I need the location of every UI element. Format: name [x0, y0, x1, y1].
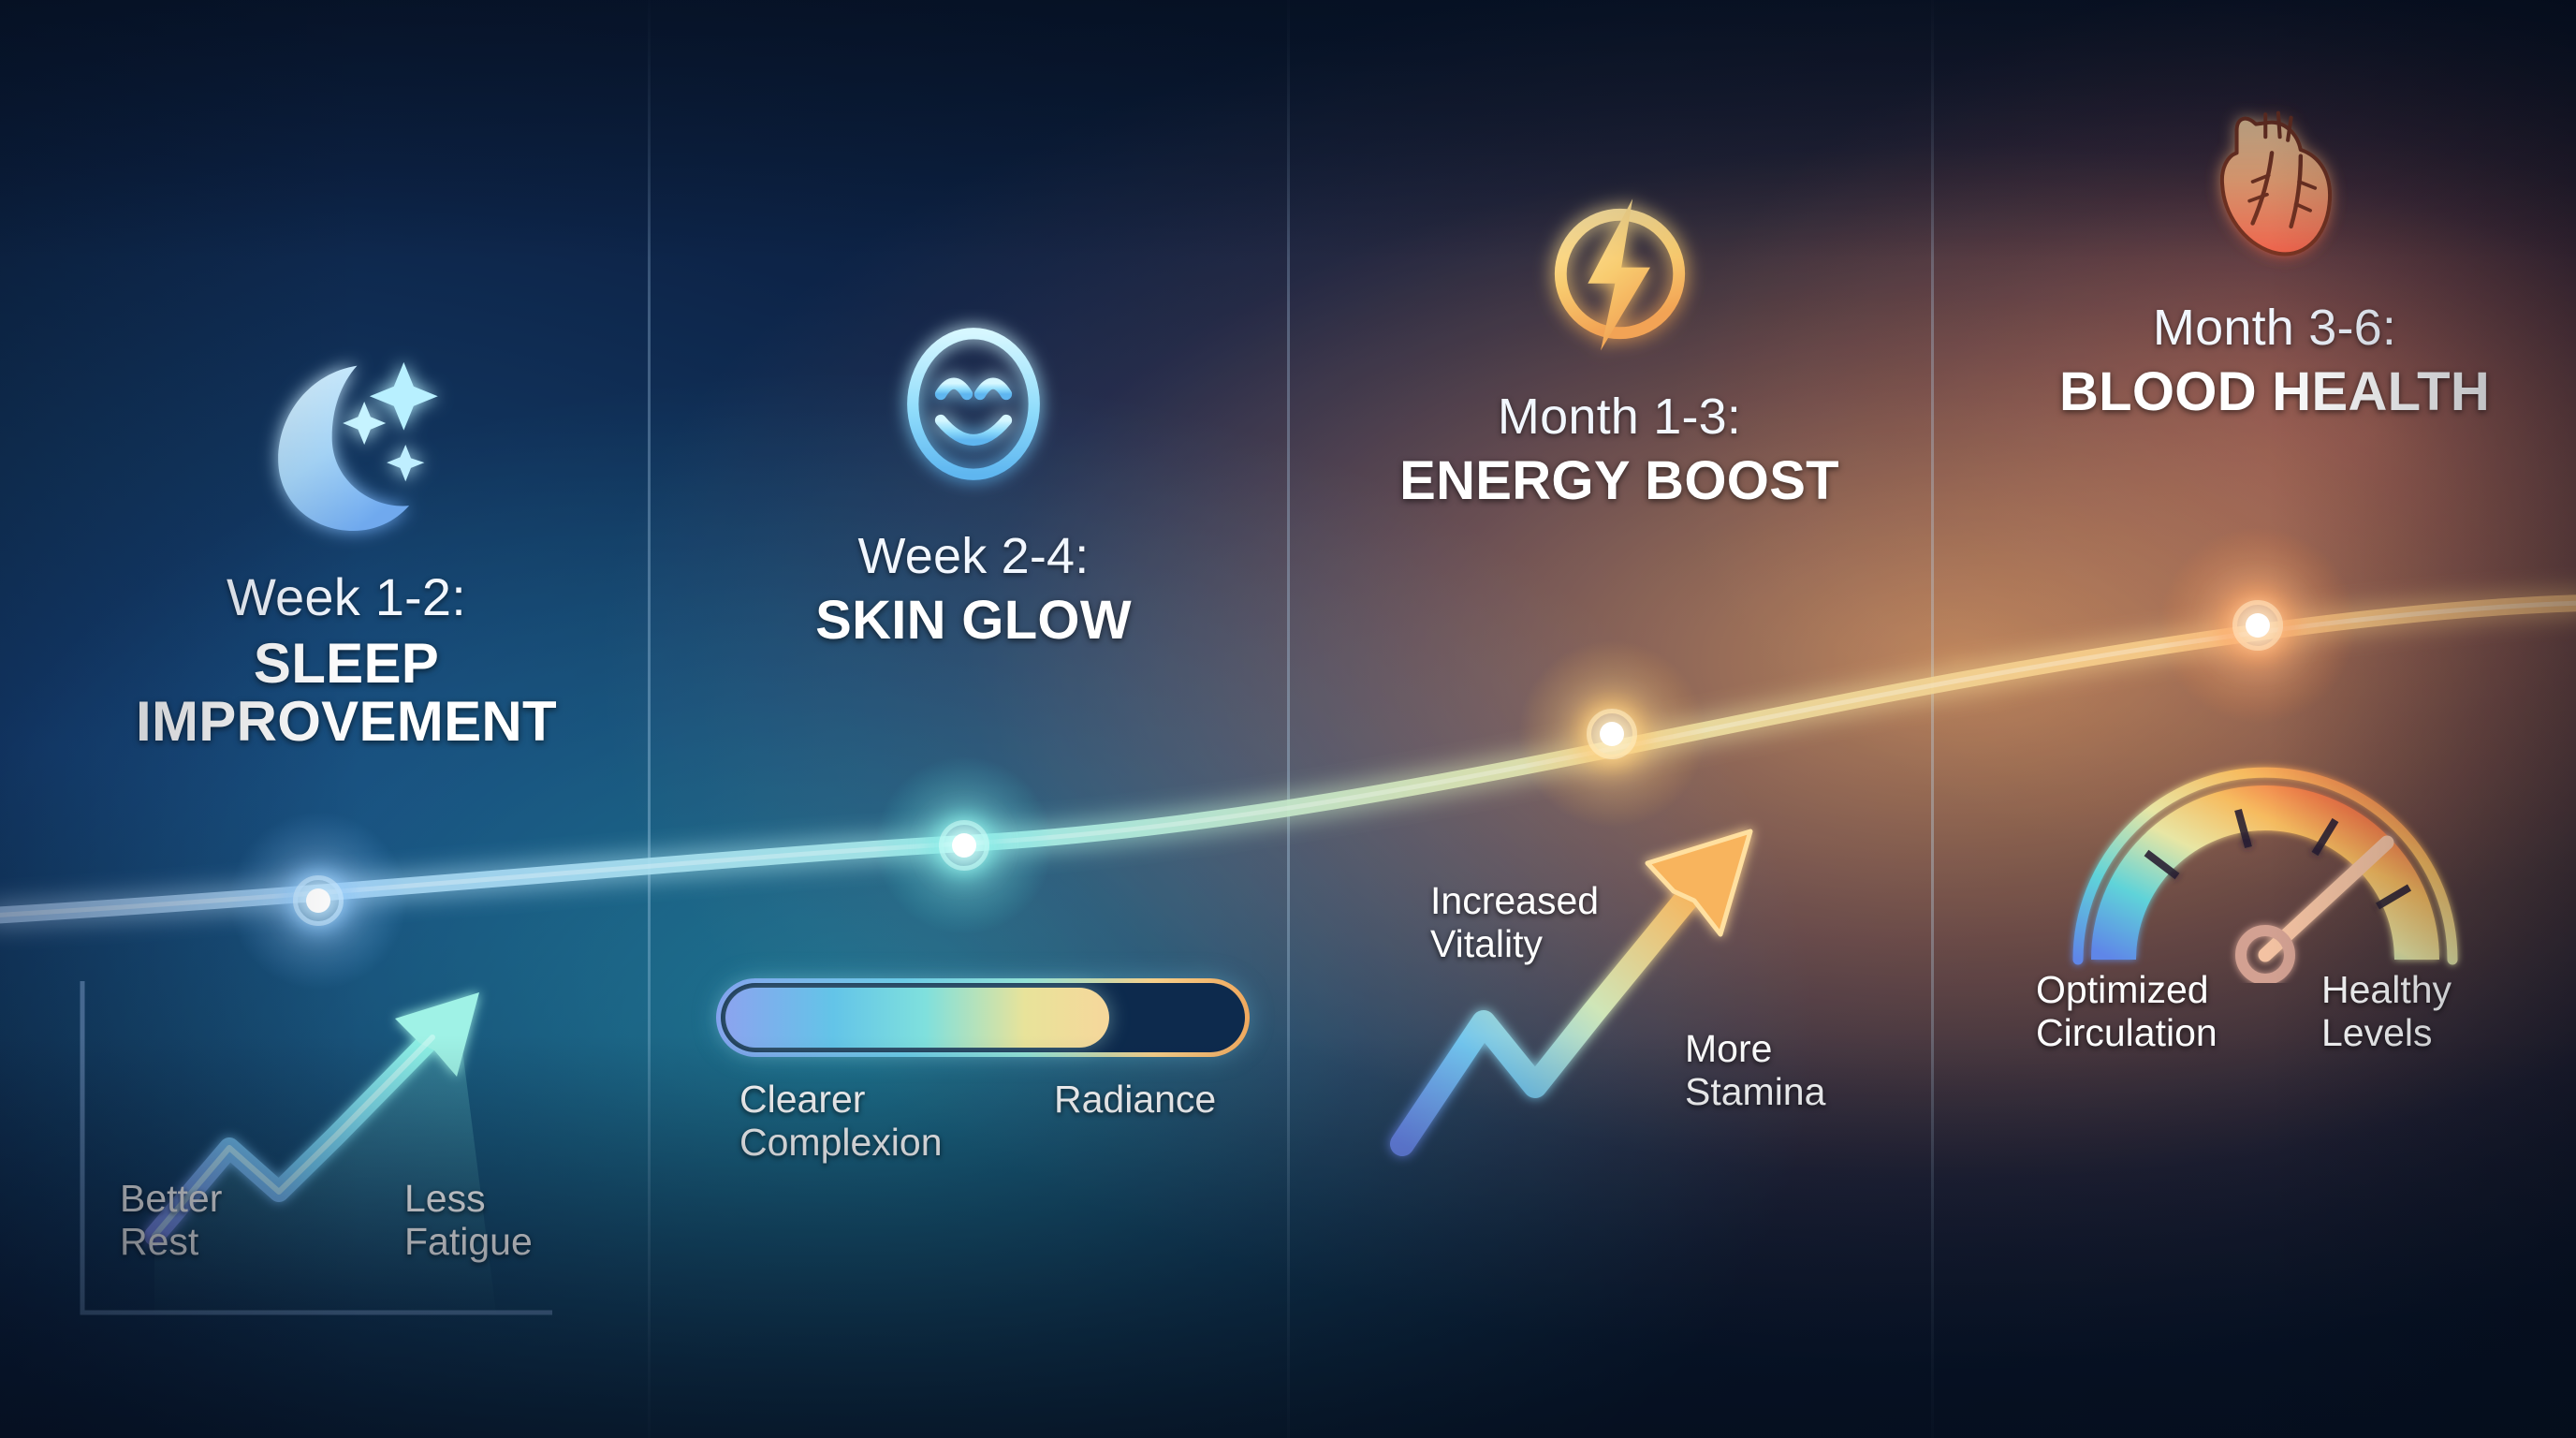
infographic-canvas: Week 1-2: SLEEP IMPROVEMENT Better Rest … — [0, 0, 2576, 1438]
background-vignette — [0, 0, 2576, 1438]
